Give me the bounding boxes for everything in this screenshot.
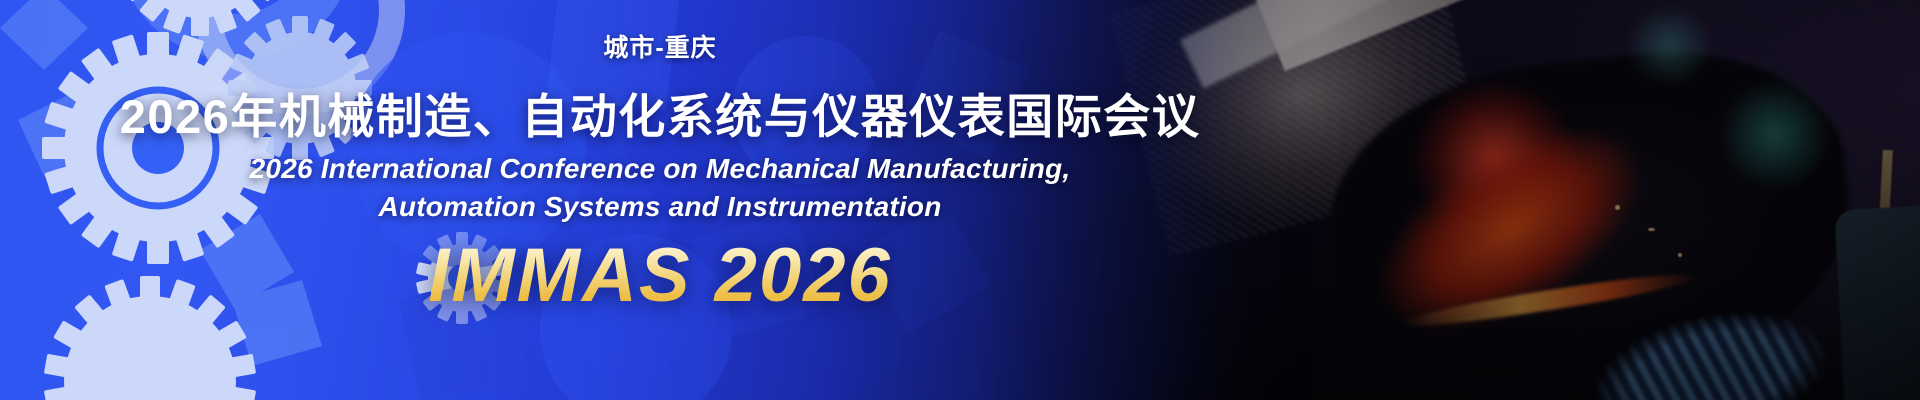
city-label: 城市-重庆 [0,28,1320,64]
conference-acronym: IMMAS 2026 [0,232,1320,319]
conference-title-english-line2: Automation Systems and Instrumentation [0,188,1320,226]
conference-title-english-line1: 2026 International Conference on Mechani… [0,150,1320,188]
conference-title-english: 2026 International Conference on Mechani… [0,150,1320,226]
conference-banner: 城市-重庆 2026年机械制造、自动化系统与仪器仪表国际会议 2026 Inte… [0,0,1920,400]
banner-text-block: 城市-重庆 2026年机械制造、自动化系统与仪器仪表国际会议 2026 Inte… [0,0,1320,400]
conference-title-chinese: 2026年机械制造、自动化系统与仪器仪表国际会议 [0,78,1320,147]
